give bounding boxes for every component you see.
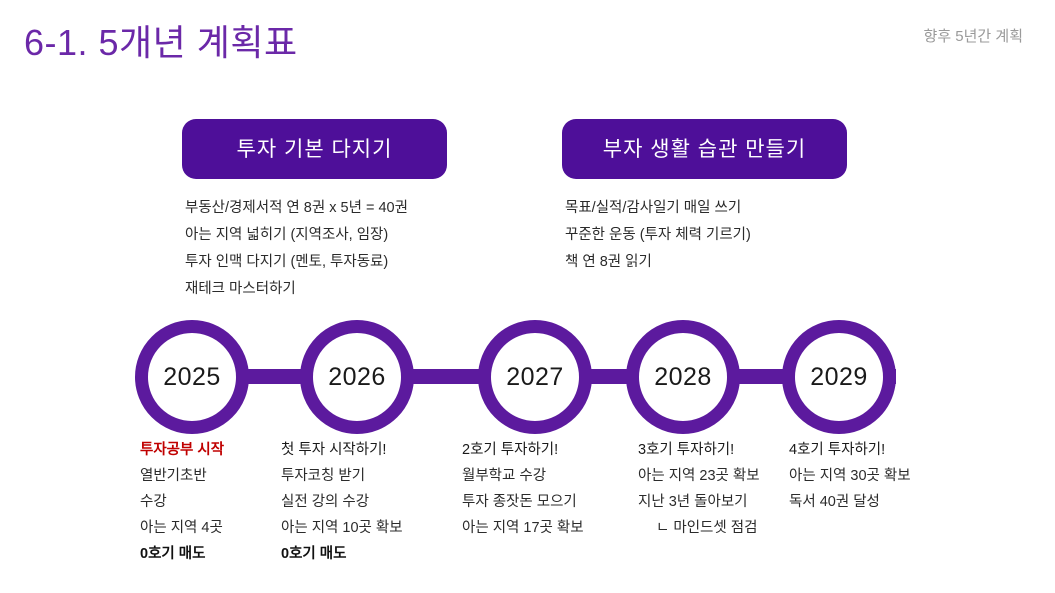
year-item: 0호기 매도	[281, 541, 441, 567]
year-column-2025: 투자공부 시작 열반기초반 수강 아는 지역 4곳 0호기 매도	[140, 437, 290, 567]
goal-card-item-list: 부동산/경제서적 연 8권 x 5년 = 40권 아는 지역 넓히기 (지역조사…	[182, 195, 447, 303]
year-item-list: 열반기초반 수강 아는 지역 4곳 0호기 매도	[140, 463, 290, 567]
timeline-node-2028: 2028	[626, 320, 740, 434]
goal-card-item: 책 연 8권 읽기	[565, 249, 847, 276]
year-headline: 투자공부 시작	[140, 437, 290, 463]
goal-card-item: 재테크 마스터하기	[185, 276, 447, 303]
year-item: 월부학교 수강	[462, 463, 627, 489]
year-item: 아는 지역 23곳 확보	[638, 463, 803, 489]
year-item: 아는 지역 30곳 확보	[789, 463, 954, 489]
year-column-2029: 4호기 투자하기! 아는 지역 30곳 확보 독서 40권 달성	[789, 437, 954, 515]
timeline-node-2029: 2029	[782, 320, 896, 434]
year-item: 아는 지역 10곳 확보	[281, 515, 441, 541]
year-item: 아는 지역 4곳	[140, 515, 290, 541]
year-item: 수강	[140, 489, 290, 515]
year-item: 0호기 매도	[140, 541, 290, 567]
timeline-node-2027: 2027	[478, 320, 592, 434]
year-item: 지난 3년 돌아보기	[638, 489, 803, 515]
goal-card-item-list: 목표/실적/감사일기 매일 쓰기 꾸준한 운동 (투자 체력 기르기) 책 연 …	[562, 195, 847, 276]
goal-card-item: 아는 지역 넓히기 (지역조사, 임장)	[185, 222, 447, 249]
goal-card-item: 부동산/경제서적 연 8권 x 5년 = 40권	[185, 195, 447, 222]
timeline-node-2026: 2026	[300, 320, 414, 434]
goal-card-item: 꾸준한 운동 (투자 체력 기르기)	[565, 222, 847, 249]
year-item-list: 월부학교 수강 투자 종잣돈 모으기 아는 지역 17곳 확보	[462, 463, 627, 541]
year-column-2027: 2호기 투자하기! 월부학교 수강 투자 종잣돈 모으기 아는 지역 17곳 확…	[462, 437, 627, 541]
year-item: 아는 지역 17곳 확보	[462, 515, 627, 541]
year-item: 열반기초반	[140, 463, 290, 489]
year-headline: 3호기 투자하기!	[638, 437, 803, 463]
year-item: 투자코칭 받기	[281, 463, 441, 489]
timeline-node-year: 2029	[810, 363, 868, 392]
year-item-list: 투자코칭 받기 실전 강의 수강 아는 지역 10곳 확보 0호기 매도	[281, 463, 441, 567]
header-note: 향후 5년간 계획	[924, 25, 1023, 46]
goal-card-investment-basics: 투자 기본 다지기 부동산/경제서적 연 8권 x 5년 = 40권 아는 지역…	[182, 119, 447, 303]
year-item-list: 아는 지역 30곳 확보 독서 40권 달성	[789, 463, 954, 515]
year-item: 실전 강의 수강	[281, 489, 441, 515]
page-title: 6-1. 5개년 계획표	[24, 14, 298, 66]
timeline-node-year: 2025	[163, 363, 221, 392]
year-headline: 4호기 투자하기!	[789, 437, 954, 463]
timeline-node-2025: 2025	[135, 320, 249, 434]
timeline-node-year: 2028	[654, 363, 712, 392]
year-column-2026: 첫 투자 시작하기! 투자코칭 받기 실전 강의 수강 아는 지역 10곳 확보…	[281, 437, 441, 567]
goal-card-title: 부자 생활 습관 만들기	[562, 119, 847, 179]
goal-card-item: 투자 인맥 다지기 (멘토, 투자동료)	[185, 249, 447, 276]
year-item: 독서 40권 달성	[789, 489, 954, 515]
year-headline: 첫 투자 시작하기!	[281, 437, 441, 463]
year-item-list: 아는 지역 23곳 확보 지난 3년 돌아보기 ㄴ 마인드셋 점검	[638, 463, 803, 541]
year-item: 투자 종잣돈 모으기	[462, 489, 627, 515]
year-item: ㄴ 마인드셋 점검	[638, 515, 803, 541]
goal-card-item: 목표/실적/감사일기 매일 쓰기	[565, 195, 847, 222]
year-column-2028: 3호기 투자하기! 아는 지역 23곳 확보 지난 3년 돌아보기 ㄴ 마인드셋…	[638, 437, 803, 541]
goal-card-rich-habits: 부자 생활 습관 만들기 목표/실적/감사일기 매일 쓰기 꾸준한 운동 (투자…	[562, 119, 847, 276]
goal-card-title: 투자 기본 다지기	[182, 119, 447, 179]
timeline-node-year: 2027	[506, 363, 564, 392]
year-headline: 2호기 투자하기!	[462, 437, 627, 463]
timeline-node-year: 2026	[328, 363, 386, 392]
